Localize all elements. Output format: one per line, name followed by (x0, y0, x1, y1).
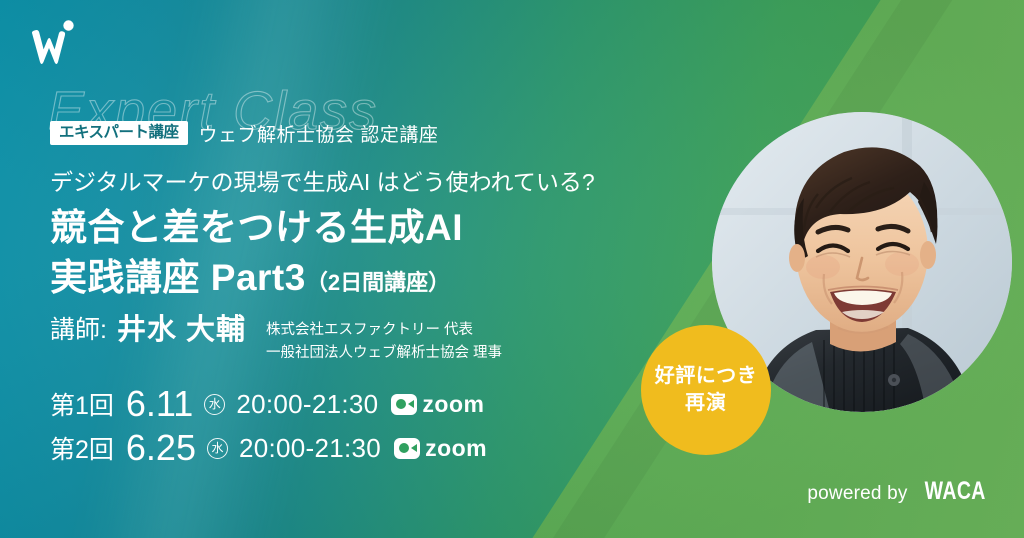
schedule-date: 6.11 (126, 386, 193, 422)
schedule-day-of-week: 水 (204, 394, 225, 415)
kicker-row: エキスパート講座 ウェブ解析士協会 認定講座 (50, 118, 690, 148)
kicker-text: ウェブ解析士協会 認定講座 (199, 120, 439, 147)
headline-line-2-main: 実践講座 Part3 (50, 257, 306, 298)
lecturer-affiliation-line-2: 一般社団法人ウェブ解析士協会 理事 (266, 345, 502, 361)
schedule-list: 第1回 6.11 水 20:00-21:30 zoom 第2回 6.25 水 2… (50, 382, 690, 470)
encore-badge-line-2: 再演 (685, 391, 727, 416)
zoom-logo: zoom (391, 393, 484, 416)
lecturer-affiliation: 株式会社エスファクトリー 代表 一般社団法人ウェブ解析士協会 理事 (266, 316, 502, 364)
waca-logo-icon (24, 16, 88, 70)
powered-by-block: powered by WACA (807, 477, 994, 506)
lecturer-block: 講師: 井水 大輔 株式会社エスファクトリー 代表 一般社団法人ウェブ解析士協会… (50, 316, 690, 364)
zoom-wordmark: zoom (425, 437, 487, 460)
zoom-logo: zoom (394, 437, 487, 460)
encore-badge-line-1: 好評につき (655, 364, 758, 389)
powered-by-label: powered by (807, 483, 907, 505)
zoom-camera-icon (394, 438, 420, 459)
schedule-session-label: 第2回 (50, 430, 114, 466)
schedule-time: 20:00-21:30 (236, 389, 378, 420)
headline-line-2: 実践講座 Part3（2日間講座） (50, 256, 690, 300)
seminar-banner: Expert Class エキスパート講座 ウェブ解析士協会 認定講座 デジタル… (0, 0, 1024, 538)
waca-wordmark: WACA (924, 477, 985, 506)
headline-line-2-parenthetical: （2日間講座） (306, 270, 450, 295)
schedule-session-label: 第1回 (50, 386, 114, 422)
kicker-badge: エキスパート講座 (50, 121, 188, 146)
lecturer-label: 講師: (50, 316, 107, 345)
schedule-row: 第1回 6.11 水 20:00-21:30 zoom (50, 382, 690, 426)
schedule-day-of-week: 水 (207, 438, 228, 459)
lecturer-affiliation-line-1: 株式会社エスファクトリー 代表 (266, 322, 473, 338)
zoom-camera-icon (391, 394, 417, 415)
lecturer-name: 井水 大輔 (117, 316, 246, 345)
subheadline: デジタルマーケの現場で生成AI はどう使われている? (50, 163, 690, 197)
schedule-row: 第2回 6.25 水 20:00-21:30 zoom (50, 426, 690, 470)
headline-line-1: 競合と差をつける生成AI (50, 206, 690, 250)
zoom-wordmark: zoom (422, 393, 484, 416)
schedule-date: 6.25 (126, 430, 196, 466)
content-column: エキスパート講座 ウェブ解析士協会 認定講座 デジタルマーケの現場で生成AI は… (50, 118, 690, 470)
schedule-time: 20:00-21:30 (239, 433, 381, 464)
encore-badge: 好評につき 再演 (641, 325, 771, 455)
